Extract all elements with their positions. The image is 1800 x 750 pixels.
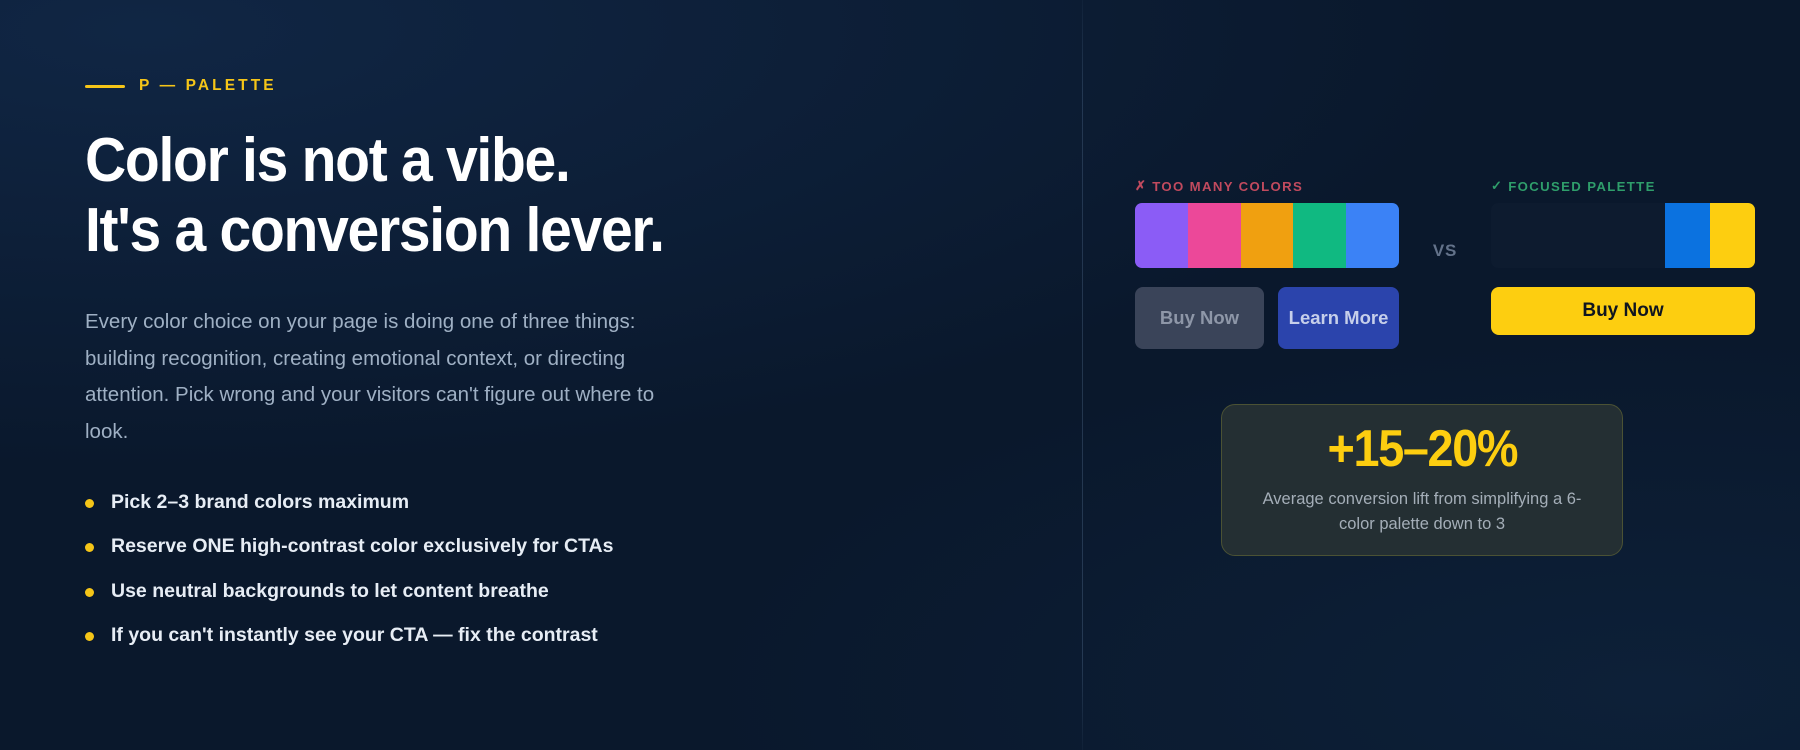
cross-icon: ✗ [1135,178,1147,194]
buy-now-button-muted[interactable]: Buy Now [1135,287,1264,349]
bullet-dot-icon [85,588,94,597]
check-icon: ✓ [1491,178,1503,194]
list-item-label: Pick 2–3 brand colors maximum [111,491,409,514]
list-item-label: Use neutral backgrounds to let content b… [111,580,549,603]
swatch-green [1293,203,1346,268]
focused-palette-column: ✓ FOCUSED PALETTE Buy Now [1491,178,1755,335]
buy-now-button-primary[interactable]: Buy Now [1491,287,1755,335]
swatch-blue [1346,203,1399,268]
list-item-label: If you can't instantly see your CTA — fi… [111,624,598,647]
list-item: If you can't instantly see your CTA — fi… [85,624,1082,647]
swatch-purple [1135,203,1188,268]
palette-comparison: ✗ TOO MANY COLORS Buy Now Learn More VS [1135,178,1755,349]
stat-value: +15–20% [1327,423,1517,475]
list-item-label: Reserve ONE high-contrast color exclusiv… [111,535,613,558]
learn-more-button[interactable]: Learn More [1278,287,1399,349]
right-demo-panel: ✗ TOO MANY COLORS Buy Now Learn More VS [1083,0,1800,750]
body-paragraph: Every color choice on your page is doing… [85,304,697,450]
slide-root: P — PALETTE Color is not a vibe. It's a … [0,0,1800,750]
list-item: Pick 2–3 brand colors maximum [85,491,1082,514]
swatch-yellow [1710,203,1755,268]
headline-line-1: Color is not a vibe. [85,126,570,195]
stat-caption: Average conversion lift from simplifying… [1257,487,1587,537]
bullet-dot-icon [85,632,94,641]
swatch-navy [1491,203,1665,268]
too-many-colors-label-text: TOO MANY COLORS [1152,179,1303,194]
list-item: Use neutral backgrounds to let content b… [85,580,1082,603]
swatch-pink [1188,203,1241,268]
bullet-dot-icon [85,543,94,552]
list-item: Reserve ONE high-contrast color exclusiv… [85,535,1082,558]
too-many-colors-column: ✗ TOO MANY COLORS Buy Now Learn More [1135,178,1399,349]
headline-line-2: It's a conversion lever. [85,200,1002,262]
bad-cta-row: Buy Now Learn More [1135,287,1399,349]
bad-swatch-bar [1135,203,1399,268]
swatch-blue [1665,203,1710,268]
good-swatch-bar [1491,203,1755,268]
swatch-orange [1241,203,1294,268]
conversion-stat-card: +15–20% Average conversion lift from sim… [1221,404,1623,556]
tips-list: Pick 2–3 brand colors maximum Reserve ON… [85,491,1082,648]
left-content-panel: P — PALETTE Color is not a vibe. It's a … [0,0,1082,750]
eyebrow: P — PALETTE [85,73,1082,99]
bullet-dot-icon [85,499,94,508]
page-title: Color is not a vibe. It's a conversion l… [85,130,1002,262]
focused-palette-label-text: FOCUSED PALETTE [1508,179,1656,194]
versus-label: VS [1399,178,1491,261]
eyebrow-label: P — PALETTE [139,77,277,95]
too-many-colors-label: ✗ TOO MANY COLORS [1135,178,1399,194]
horizontal-rule-icon [85,85,125,88]
focused-palette-label: ✓ FOCUSED PALETTE [1491,178,1755,194]
